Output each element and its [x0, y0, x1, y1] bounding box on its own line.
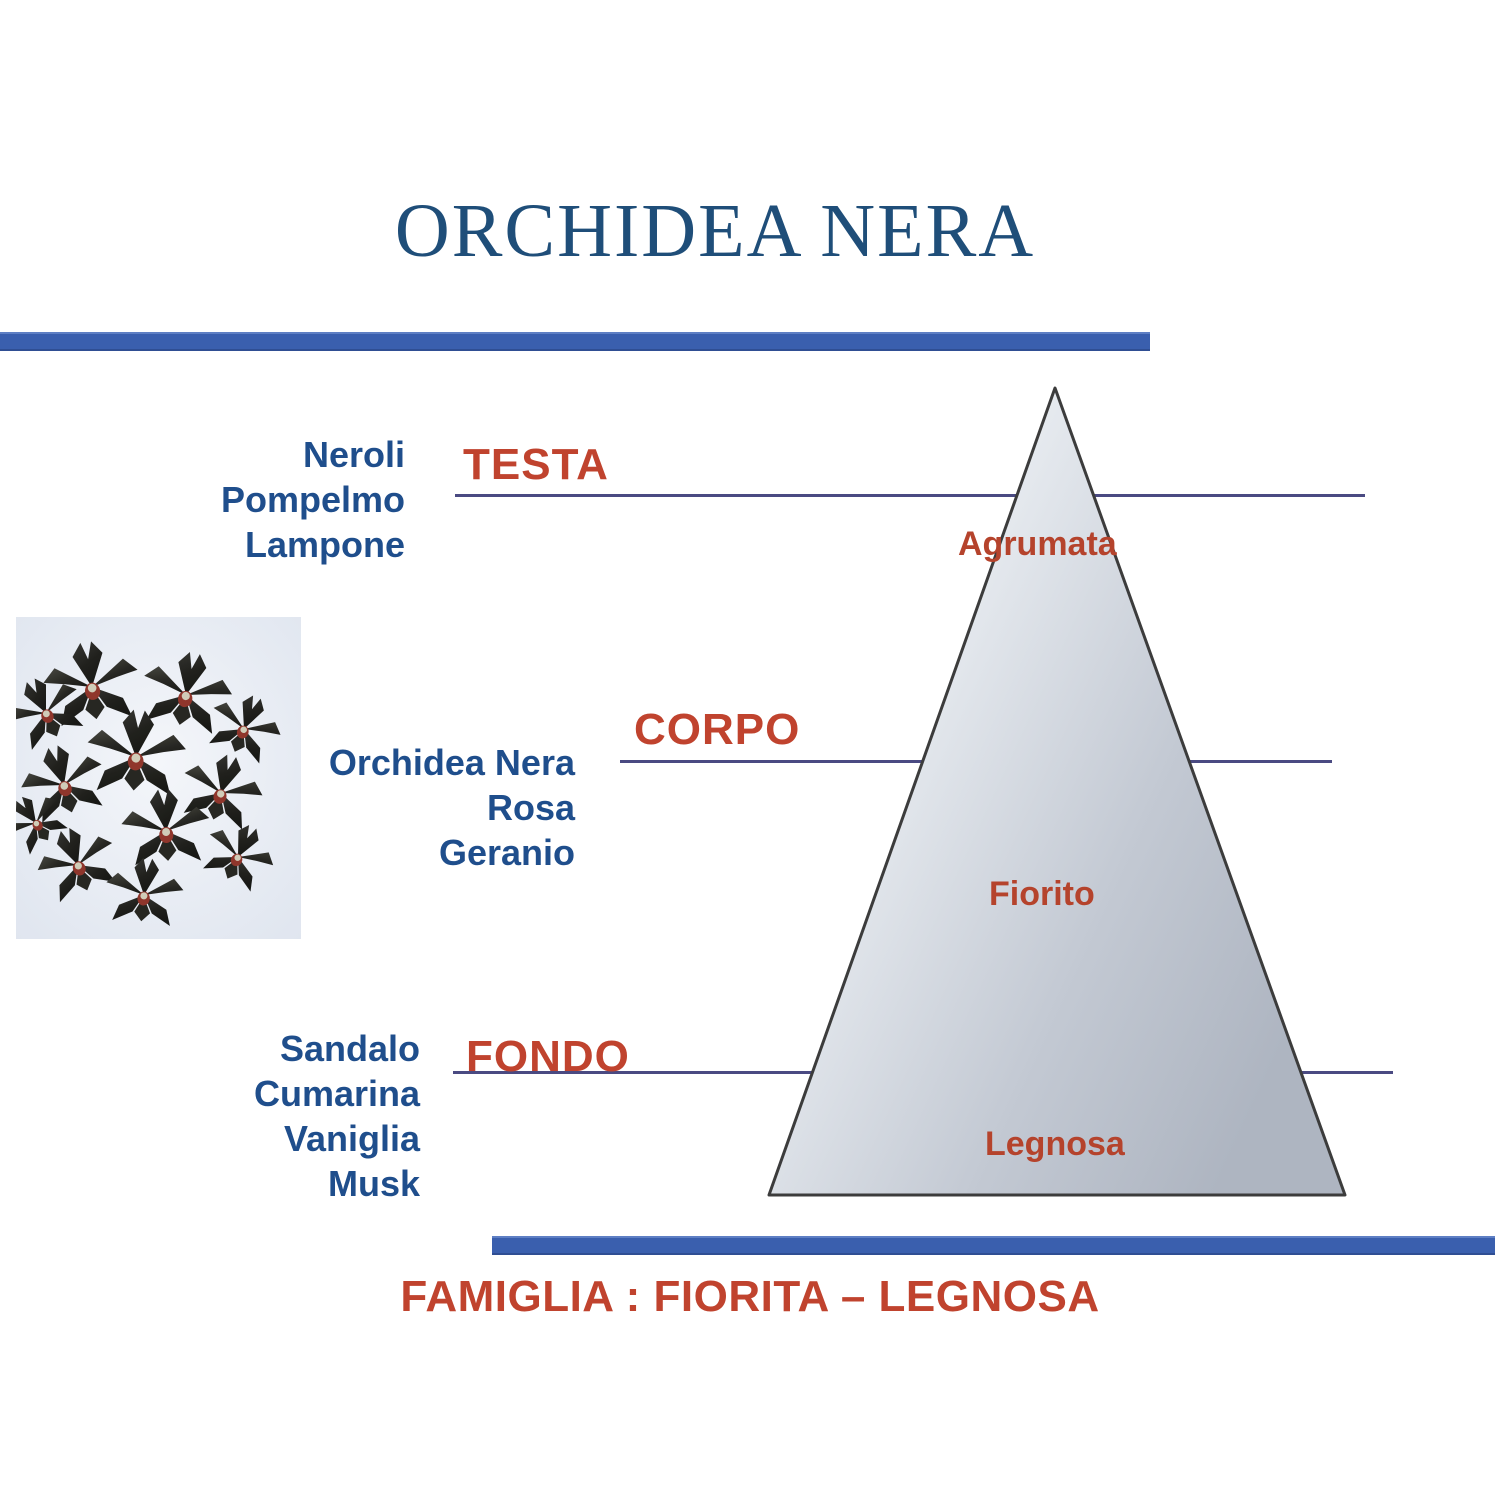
note-item: Cumarina: [140, 1071, 420, 1116]
page-title: ORCHIDEA NERA: [0, 188, 1430, 275]
slide-canvas: ORCHIDEA NERA TESTA CORPO FONDO Neroli P…: [0, 0, 1500, 1500]
notes-group-testa: Neroli Pompelmo Lampone: [100, 432, 405, 567]
note-item: Neroli: [100, 432, 405, 477]
stage-label-fondo: FONDO: [466, 1032, 630, 1082]
bottom-divider-bar: [492, 1236, 1495, 1255]
note-item: Vaniglia: [140, 1116, 420, 1161]
note-item: Pompelmo: [100, 477, 405, 522]
fragrance-pyramid: [755, 380, 1365, 1210]
black-orchid-photo: [16, 617, 301, 939]
family-caption: FAMIGLIA : FIORITA – LEGNOSA: [0, 1272, 1500, 1322]
pyramid-label-fiorito: Fiorito: [989, 875, 1095, 914]
note-item: Lampone: [100, 522, 405, 567]
notes-group-fondo: Sandalo Cumarina Vaniglia Musk: [140, 1026, 420, 1206]
pyramid-label-agrumata: Agrumata: [958, 523, 1128, 566]
note-item: Musk: [140, 1161, 420, 1206]
top-divider-bar: [0, 332, 1150, 351]
note-item: Sandalo: [140, 1026, 420, 1071]
pyramid-label-legnosa: Legnosa: [985, 1125, 1125, 1164]
stage-label-testa: TESTA: [463, 440, 609, 490]
